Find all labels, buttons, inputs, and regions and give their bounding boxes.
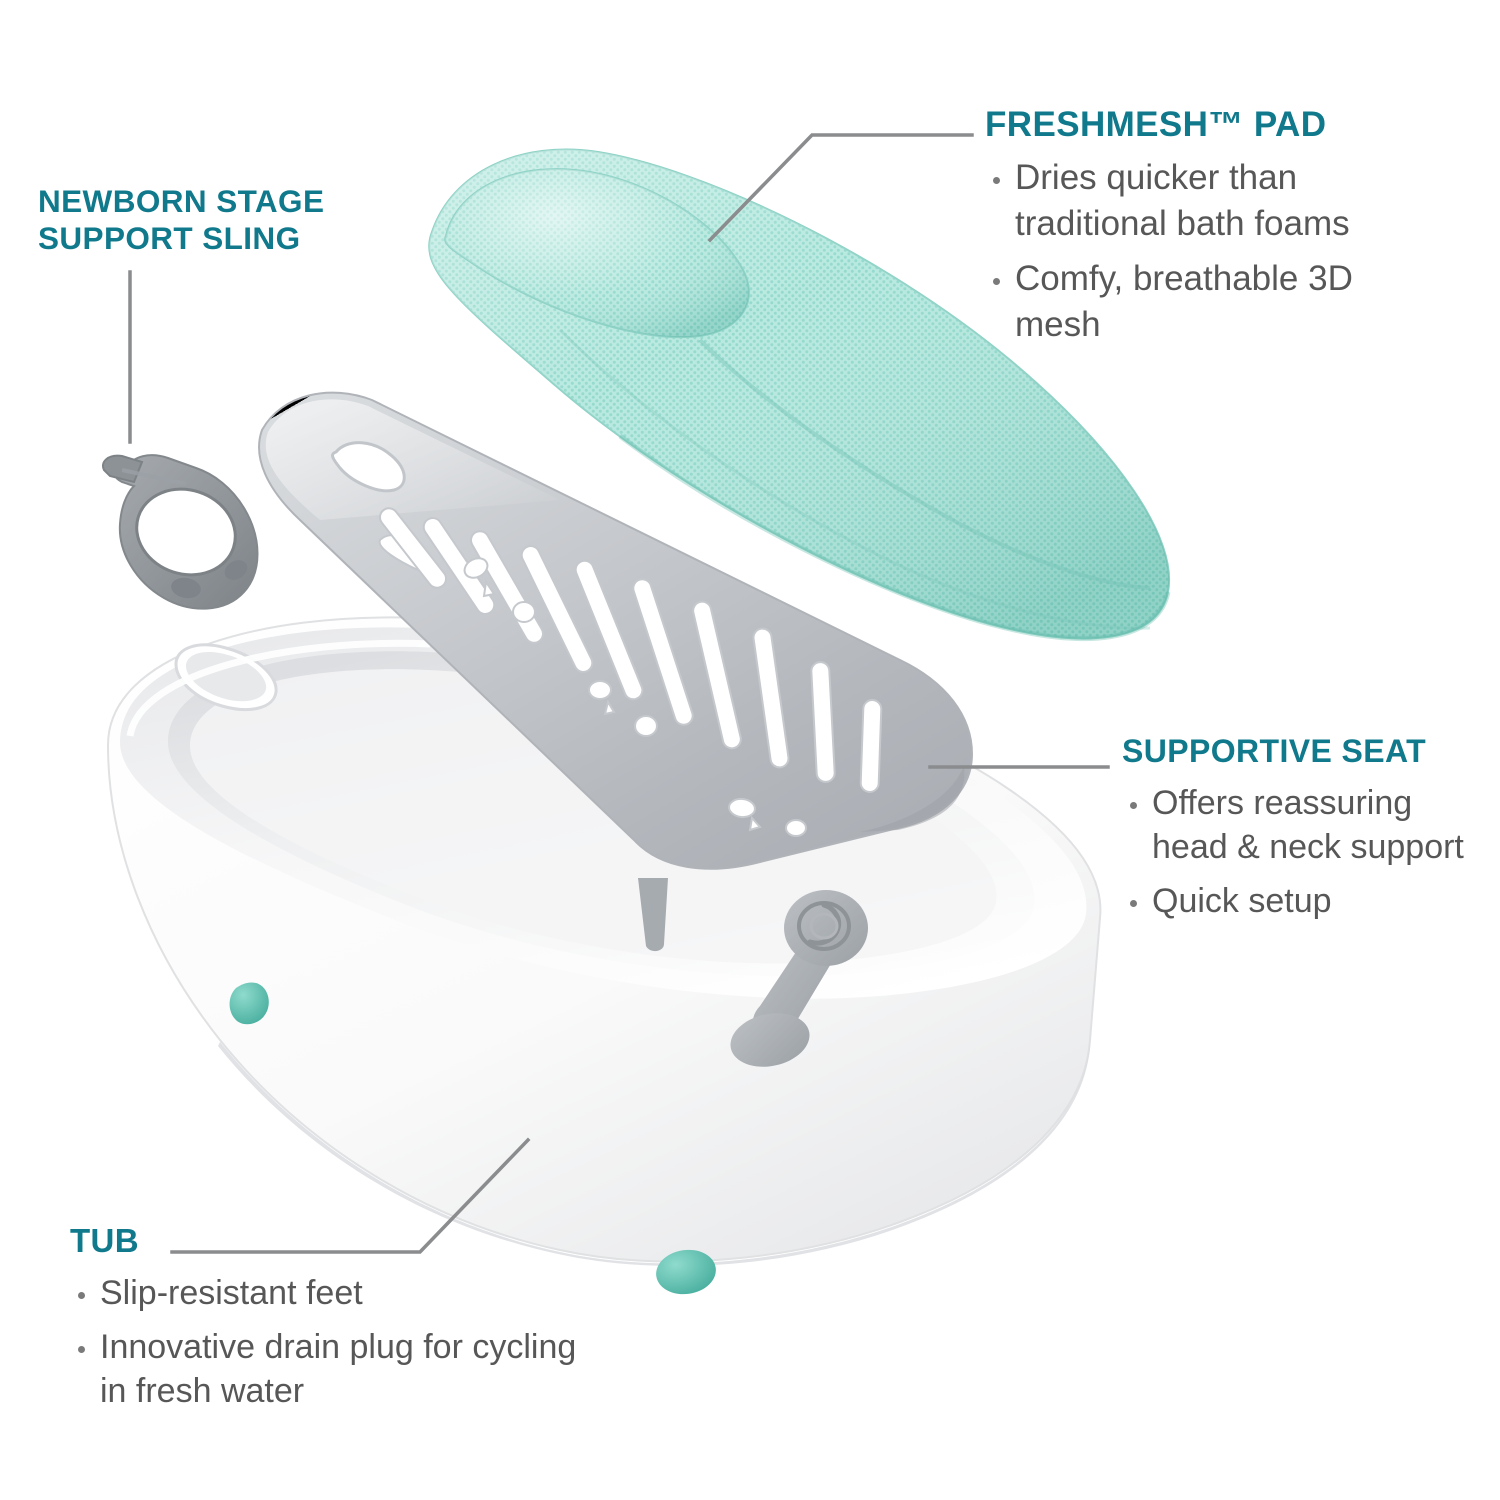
seat-highlight — [266, 399, 560, 520]
bullet-item: Dries quicker than traditional bath foam… — [985, 155, 1445, 246]
callout-title-tub: TUB — [70, 1222, 590, 1261]
callout-title-freshmesh: FRESHMESH™ PAD — [985, 104, 1445, 145]
callout-bullets-tub: Slip-resistant feet Innovative drain plu… — [70, 1271, 590, 1414]
product-infographic: FRESHMESH™ PAD Dries quicker than tradit… — [0, 0, 1500, 1500]
bullet-item: Offers reassuring head & neck support — [1122, 781, 1482, 869]
newborn-support-sling — [103, 455, 258, 608]
callout-support-sling: NEWBORN STAGE SUPPORT SLING — [38, 183, 398, 267]
callout-title-seat: SUPPORTIVE SEAT — [1122, 733, 1482, 771]
bullet-item: Slip-resistant feet — [70, 1271, 590, 1315]
callout-bullets-freshmesh: Dries quicker than traditional bath foam… — [985, 155, 1445, 347]
callout-supportive-seat: SUPPORTIVE SEAT Offers reassuring head &… — [1122, 733, 1482, 933]
bullet-item: Innovative drain plug for cycling in fre… — [70, 1325, 590, 1413]
callout-freshmesh-pad: FRESHMESH™ PAD Dries quicker than tradit… — [985, 104, 1445, 357]
bullet-item: Comfy, breathable 3D mesh — [985, 256, 1445, 347]
callout-tub: TUB Slip-resistant feet Innovative drain… — [70, 1222, 590, 1424]
callout-title-sling: NEWBORN STAGE SUPPORT SLING — [38, 183, 398, 257]
bullet-item: Quick setup — [1122, 879, 1482, 923]
callout-bullets-seat: Offers reassuring head & neck support Qu… — [1122, 781, 1482, 924]
